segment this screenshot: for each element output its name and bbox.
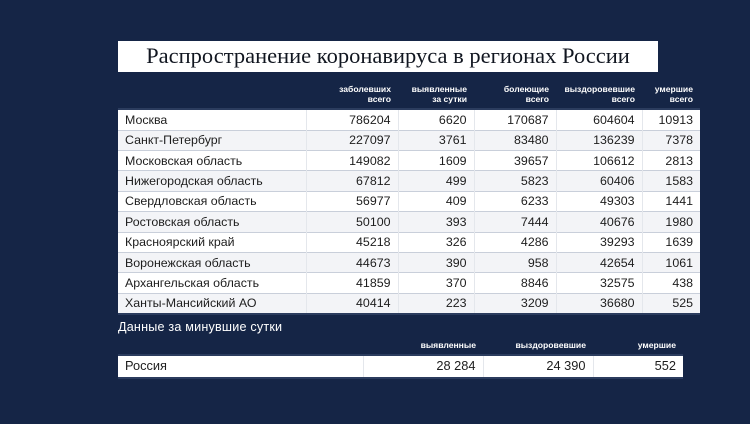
cell-deaths: 1061 [642, 253, 700, 273]
table-row: Москва786204662017068760460410913 [118, 109, 700, 130]
cell-recovered: 49303 [556, 191, 642, 211]
cell-deaths: 1980 [642, 212, 700, 232]
summary-table-head: выявленные выздоровевшие умершие [118, 340, 683, 355]
table-row: Архангельская область4185937088463257543… [118, 273, 700, 293]
cell-active: 8846 [474, 273, 556, 293]
column-header-active: болеющие всего [474, 84, 556, 109]
cell-new: 28 284 [363, 355, 483, 378]
column-header-recovered: выздоровевшие всего [556, 84, 642, 109]
cell-recovered: 106612 [556, 151, 642, 171]
table-row: Нижегородская область6781249958236040615… [118, 171, 700, 191]
column-header-deaths: умершие всего [642, 84, 700, 109]
russia-summary-table: выявленные выздоровевшие умершие Россия2… [118, 340, 683, 379]
cell-deaths: 1583 [642, 171, 700, 191]
cell-region: Архангельская область [118, 273, 306, 293]
regions-table-head: заболевших всего выявленные за сутки бол… [118, 84, 700, 109]
cell-new-daily: 326 [398, 232, 474, 252]
cell-deaths: 7378 [642, 130, 700, 150]
cell-new-daily: 6620 [398, 109, 474, 130]
cell-deaths: 1639 [642, 232, 700, 252]
table-row: Воронежская область44673390958426541061 [118, 253, 700, 273]
cell-cases-total: 149082 [306, 151, 398, 171]
cell-cases-total: 45218 [306, 232, 398, 252]
cell-recovered: 604604 [556, 109, 642, 130]
regions-table-body: Москва786204662017068760460410913Санкт-П… [118, 109, 700, 314]
cell-recovered: 32575 [556, 273, 642, 293]
cell-deaths: 1441 [642, 191, 700, 211]
cell-region: Московская область [118, 151, 306, 171]
column-header-deaths: умершие [593, 340, 683, 355]
cell-new-daily: 3761 [398, 130, 474, 150]
column-header-recovered: выздоровевшие [483, 340, 593, 355]
cell-region: Москва [118, 109, 306, 130]
cell-cases-total: 44673 [306, 253, 398, 273]
cell-recovered: 39293 [556, 232, 642, 252]
cell-cases-total: 41859 [306, 273, 398, 293]
header-line-2: всего [612, 94, 635, 104]
slide-root: Распространение коронавируса в регионах … [0, 0, 750, 424]
cell-new-daily: 409 [398, 191, 474, 211]
cell-active: 39657 [474, 151, 556, 171]
cell-cases-total: 786204 [306, 109, 398, 130]
cell-region: Красноярский край [118, 232, 306, 252]
cell-deaths: 525 [642, 293, 700, 314]
header-line-2: всего [670, 94, 693, 104]
cell-new-daily: 1609 [398, 151, 474, 171]
cell-recovered: 136239 [556, 130, 642, 150]
header-line-1: заболевших [339, 84, 391, 94]
summary-table-body: Россия28 28424 390552 [118, 355, 683, 378]
header-line-2: за сутки [432, 94, 467, 104]
cell-recovered: 24 390 [483, 355, 593, 378]
header-line-1: болеющие [504, 84, 549, 94]
header-line-2: всего [368, 94, 391, 104]
cell-active: 170687 [474, 109, 556, 130]
page-title: Распространение коронавируса в регионах … [146, 45, 630, 68]
cell-region: Санкт-Петербург [118, 130, 306, 150]
cell-region: Нижегородская область [118, 171, 306, 191]
cell-region: Ханты-Мансийский АО [118, 293, 306, 314]
cell-region: Воронежская область [118, 253, 306, 273]
cell-recovered: 42654 [556, 253, 642, 273]
table-header-row: заболевших всего выявленные за сутки бол… [118, 84, 700, 109]
header-line-1: выявленные [412, 84, 467, 94]
cell-new-daily: 370 [398, 273, 474, 293]
cell-region: Ростовская область [118, 212, 306, 232]
cell-active: 6233 [474, 191, 556, 211]
table-row: Санкт-Петербург2270973761834801362397378 [118, 130, 700, 150]
cell-active: 83480 [474, 130, 556, 150]
cell-cases-total: 40414 [306, 293, 398, 314]
cell-recovered: 36680 [556, 293, 642, 314]
cell-active: 7444 [474, 212, 556, 232]
cell-active: 4286 [474, 232, 556, 252]
cell-cases-total: 56977 [306, 191, 398, 211]
cell-recovered: 40676 [556, 212, 642, 232]
cell-cases-total: 227097 [306, 130, 398, 150]
table-row: Ростовская область501003937444406761980 [118, 212, 700, 232]
regions-table: заболевших всего выявленные за сутки бол… [118, 84, 700, 315]
table-row: Московская область1490821609396571066122… [118, 151, 700, 171]
section-subtitle: Данные за минувшие сутки [118, 320, 282, 334]
cell-new-daily: 393 [398, 212, 474, 232]
cell-cases-total: 67812 [306, 171, 398, 191]
header-line-1: умершие [655, 84, 693, 94]
column-header-region [118, 340, 363, 355]
column-header-new-daily: выявленные за сутки [398, 84, 474, 109]
column-header-region [118, 84, 306, 109]
cell-active: 958 [474, 253, 556, 273]
cell-new-daily: 499 [398, 171, 474, 191]
cell-deaths: 438 [642, 273, 700, 293]
title-banner: Распространение коронавируса в регионах … [118, 41, 658, 72]
cell-region: Россия [118, 355, 363, 378]
cell-active: 3209 [474, 293, 556, 314]
table-row: Свердловская область56977409623349303144… [118, 191, 700, 211]
column-header-cases-total: заболевших всего [306, 84, 398, 109]
cell-deaths: 552 [593, 355, 683, 378]
table-row: Ханты-Мансийский АО40414223320936680525 [118, 293, 700, 314]
table-row: Россия28 28424 390552 [118, 355, 683, 378]
cell-recovered: 60406 [556, 171, 642, 191]
cell-region: Свердловская область [118, 191, 306, 211]
cell-cases-total: 50100 [306, 212, 398, 232]
cell-new-daily: 390 [398, 253, 474, 273]
header-line-1: выздоровевшие [564, 84, 635, 94]
column-header-new: выявленные [363, 340, 483, 355]
cell-new-daily: 223 [398, 293, 474, 314]
table-header-row: выявленные выздоровевшие умершие [118, 340, 683, 355]
table-row: Красноярский край452183264286392931639 [118, 232, 700, 252]
cell-active: 5823 [474, 171, 556, 191]
header-line-2: всего [526, 94, 549, 104]
cell-deaths: 2813 [642, 151, 700, 171]
cell-deaths: 10913 [642, 109, 700, 130]
